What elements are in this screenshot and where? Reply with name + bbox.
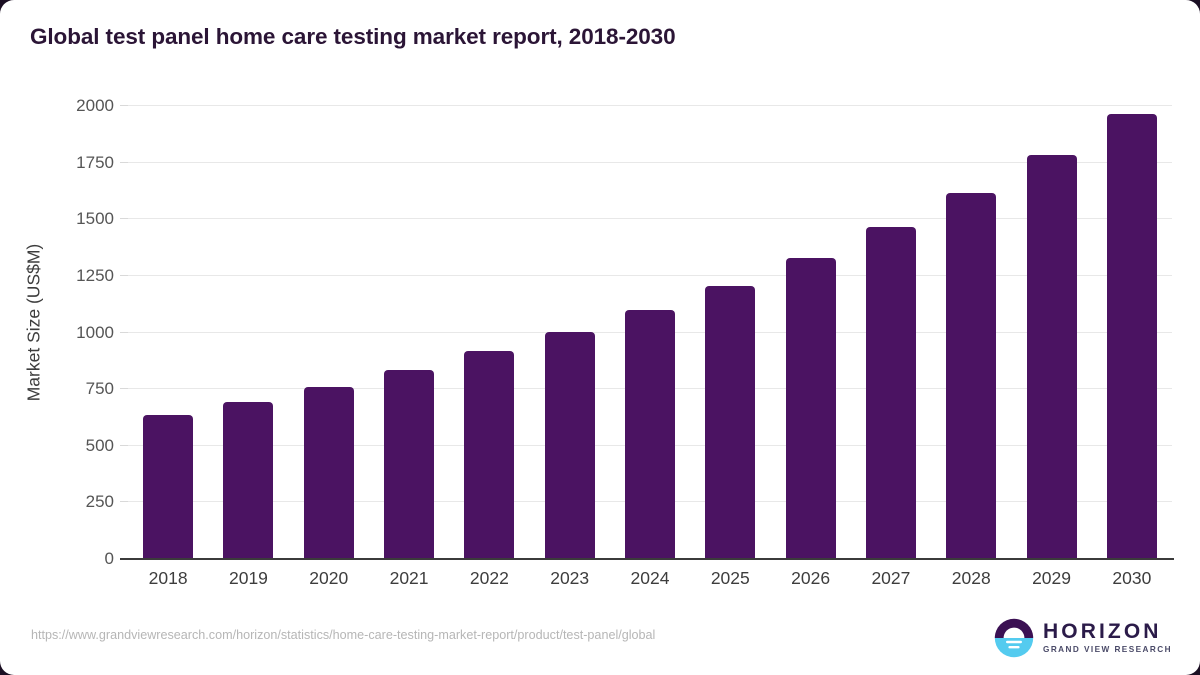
y-axis-title: Market Size (US$M) (24, 113, 45, 533)
y-tick-label: 2000 (76, 97, 114, 114)
bar[interactable] (384, 370, 434, 558)
x-tick-label: 2021 (369, 568, 449, 589)
gridline (128, 105, 1172, 106)
x-tick-label: 2025 (690, 568, 770, 589)
bar[interactable] (464, 351, 514, 558)
y-tick-mark (120, 388, 128, 389)
x-tick-label: 2026 (771, 568, 851, 589)
gridline (128, 218, 1172, 219)
y-tick-mark (120, 105, 128, 106)
x-tick-label: 2018 (128, 568, 208, 589)
x-tick-label: 2027 (851, 568, 931, 589)
chart-page: Global test panel home care testing mark… (0, 0, 1200, 675)
x-tick-label: 2020 (289, 568, 369, 589)
bar[interactable] (545, 332, 595, 559)
y-tick-mark (120, 332, 128, 333)
x-tick-label: 2022 (449, 568, 529, 589)
bar[interactable] (946, 193, 996, 558)
bar[interactable] (625, 310, 675, 558)
y-tick-mark (120, 445, 128, 446)
bar[interactable] (304, 387, 354, 558)
y-tick-label: 750 (86, 380, 114, 397)
y-tick-label: 1750 (76, 154, 114, 171)
horizon-logo[interactable]: HORIZON GRAND VIEW RESEARCH (994, 617, 1172, 659)
y-tick-mark (120, 218, 128, 219)
x-tick-label: 2019 (208, 568, 288, 589)
x-tick-label: 2023 (530, 568, 610, 589)
gridline (128, 275, 1172, 276)
horizon-logo-text: HORIZON GRAND VIEW RESEARCH (1043, 621, 1172, 654)
y-tick-label: 1250 (76, 267, 114, 284)
bar[interactable] (866, 227, 916, 558)
logo-tagline: GRAND VIEW RESEARCH (1043, 646, 1172, 654)
x-tick-label: 2030 (1092, 568, 1172, 589)
y-tick-label: 1000 (76, 324, 114, 341)
bar[interactable] (705, 286, 755, 558)
gridline (128, 162, 1172, 163)
x-tick-label: 2029 (1012, 568, 1092, 589)
bar[interactable] (223, 402, 273, 558)
y-tick-label: 500 (86, 437, 114, 454)
y-tick-mark (120, 162, 128, 163)
source-url[interactable]: https://www.grandviewresearch.com/horizo… (31, 628, 655, 642)
bar[interactable] (1107, 114, 1157, 558)
plot-area (128, 105, 1172, 558)
y-tick-mark (120, 275, 128, 276)
chart-plot-frame: 025050075010001250150017502000 201820192… (0, 0, 1200, 675)
y-tick-mark (120, 501, 128, 502)
bar[interactable] (143, 415, 193, 558)
bar[interactable] (786, 258, 836, 558)
y-tick-label: 1500 (76, 210, 114, 227)
y-tick-label: 0 (105, 550, 114, 567)
x-tick-label: 2028 (931, 568, 1011, 589)
y-tick-label: 250 (86, 493, 114, 510)
logo-wordmark: HORIZON (1043, 621, 1172, 642)
x-axis-line (120, 558, 1174, 560)
horizon-logo-icon (994, 618, 1034, 658)
x-tick-label: 2024 (610, 568, 690, 589)
bar[interactable] (1027, 155, 1077, 558)
